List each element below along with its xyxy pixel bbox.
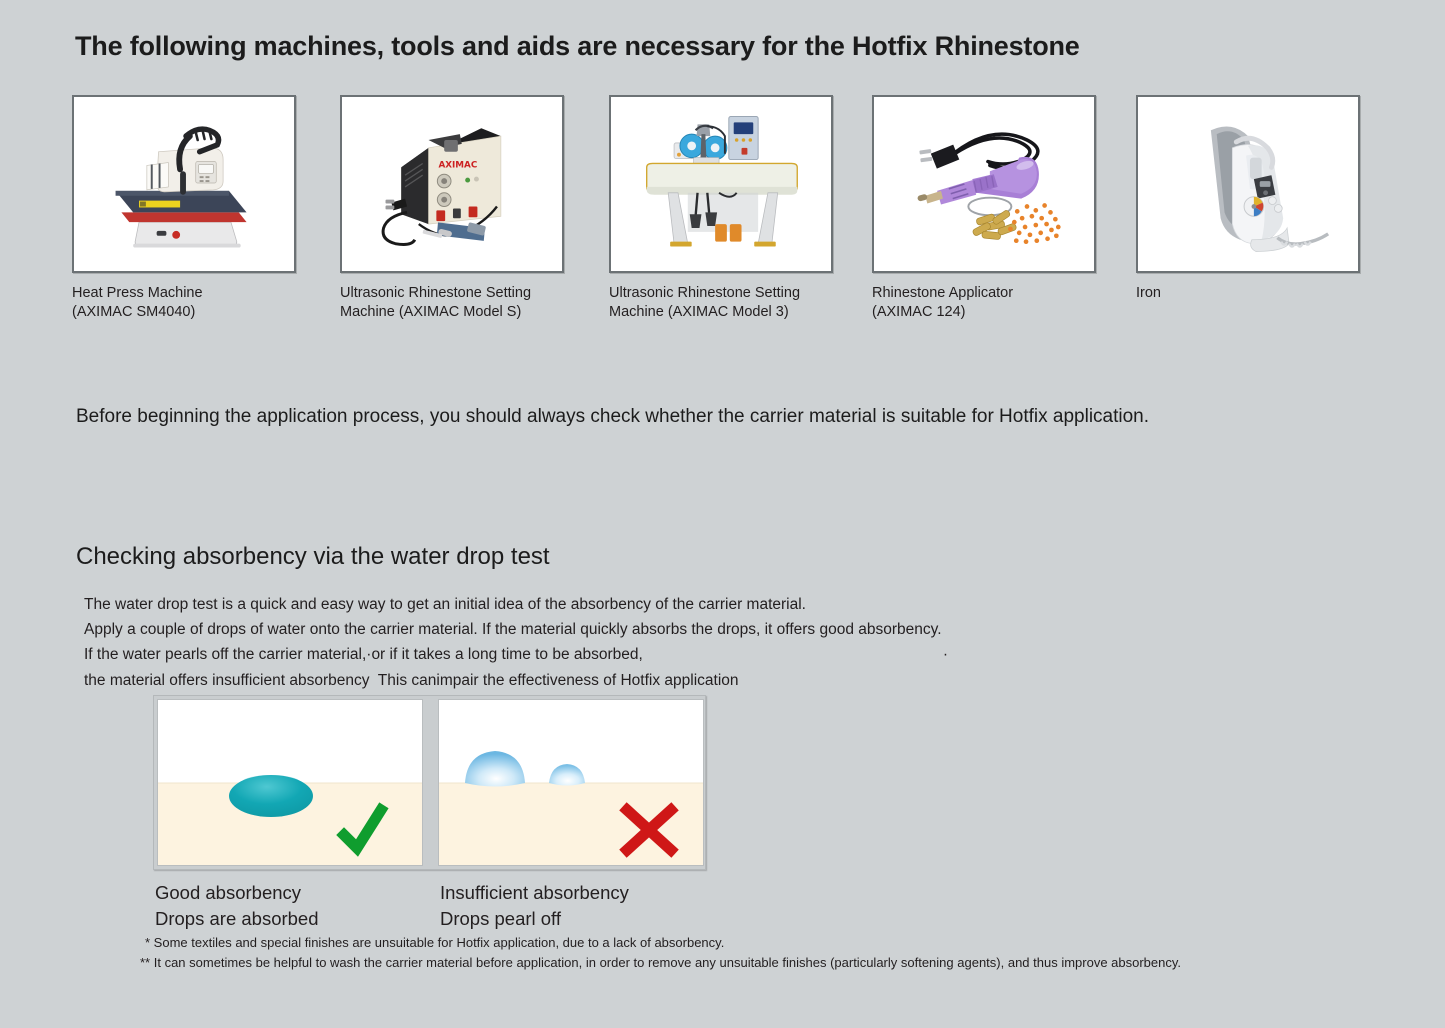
iron-photo-frame (1136, 95, 1360, 273)
heat-press-machine-photo-frame (72, 95, 296, 273)
absorbency-intro-line1: The water drop test is a quick and easy … (84, 592, 948, 617)
machine-caption-line2: (AXIMAC 124) (872, 303, 1098, 322)
machine-gallery: Heat Press Machine (AXIMAC SM4040) (72, 95, 1372, 335)
good-absorbency-label: Good absorbency Drops are absorbed (155, 880, 319, 932)
machine-item-ultrasonic-model-3: Ultrasonic Rhinestone Setting Machine (A… (609, 95, 835, 322)
ultrasonic-setting-machine-model-s-photo-frame: AXIMAC (340, 95, 564, 273)
machine-caption-line1: Heat Press Machine (72, 284, 298, 303)
machine-item-heat-press: Heat Press Machine (AXIMAC SM4040) (72, 95, 298, 322)
footnote-double-asterisk: ** It can sometimes be helpful to wash t… (140, 953, 1181, 973)
machine-item-iron: Iron (1136, 95, 1362, 303)
machine-caption: Heat Press Machine (AXIMAC SM4040) (72, 284, 298, 322)
water-drop-test-figure (153, 695, 706, 870)
absorbency-intro-line3: If the water pearls off the carrier mate… (84, 646, 643, 663)
absorbency-intro-line3-wrap: If the water pearls off the carrier mate… (84, 642, 948, 667)
iron-photo (1138, 97, 1358, 271)
machine-caption-line1: Rhinestone Applicator (872, 284, 1098, 303)
page-title: The following machines, tools and aids a… (75, 31, 1080, 62)
heat-press-machine-photo (74, 97, 294, 271)
machine-caption-line1: Ultrasonic Rhinestone Setting (609, 284, 835, 303)
insufficient-absorbency-label: Insufficient absorbency Drops pearl off (440, 880, 629, 932)
machine-item-rhinestone-applicator: Rhinestone Applicator (AXIMAC 124) (872, 95, 1098, 322)
machine-caption-line1: Ultrasonic Rhinestone Setting (340, 284, 566, 303)
svg-text:AXIMAC: AXIMAC (438, 160, 477, 170)
machine-caption-line2: Machine (AXIMAC Model S) (340, 303, 566, 322)
machine-item-ultrasonic-model-s: AXIMAC (340, 95, 566, 322)
footnotes: * Some textiles and special finishes are… (145, 933, 1181, 973)
ultrasonic-setting-machine-model-s-photo: AXIMAC (342, 97, 562, 271)
absorbency-intro-line2: Apply a couple of drops of water onto th… (84, 617, 948, 642)
ultrasonic-setting-machine-model-3-photo-frame (609, 95, 833, 273)
good-absorbency-illustration (157, 699, 423, 866)
machine-caption: Ultrasonic Rhinestone Setting Machine (A… (340, 284, 566, 322)
absorbency-intro-text: The water drop test is a quick and easy … (84, 592, 948, 693)
machine-caption: Rhinestone Applicator (AXIMAC 124) (872, 284, 1098, 322)
rhinestone-applicator-photo-frame (872, 95, 1096, 273)
rhinestone-applicator-photo (874, 97, 1094, 271)
ultrasonic-setting-machine-model-3-photo (611, 97, 831, 271)
insufficient-absorbency-title: Insufficient absorbency (440, 880, 629, 906)
machine-caption: Ultrasonic Rhinestone Setting Machine (A… (609, 284, 835, 322)
absorbency-intro-line4: the material offers insufficient absorbe… (84, 668, 948, 693)
machine-caption: Iron (1136, 284, 1362, 303)
machine-caption-line1: Iron (1136, 284, 1362, 303)
insufficient-absorbency-sub: Drops pearl off (440, 906, 629, 932)
machine-caption-line2: (AXIMAC SM4040) (72, 303, 298, 322)
good-absorbency-sub: Drops are absorbed (155, 906, 319, 932)
carrier-material-note: Before beginning the application process… (76, 406, 1149, 428)
absorbency-intro-line3-tail: · (943, 646, 948, 663)
machine-caption-line2: Machine (AXIMAC Model 3) (609, 303, 835, 322)
good-absorbency-title: Good absorbency (155, 880, 319, 906)
section-title-absorbency: Checking absorbency via the water drop t… (76, 543, 550, 571)
insufficient-absorbency-illustration (438, 699, 704, 866)
footnote-single-asterisk: * Some textiles and special finishes are… (145, 933, 1181, 953)
